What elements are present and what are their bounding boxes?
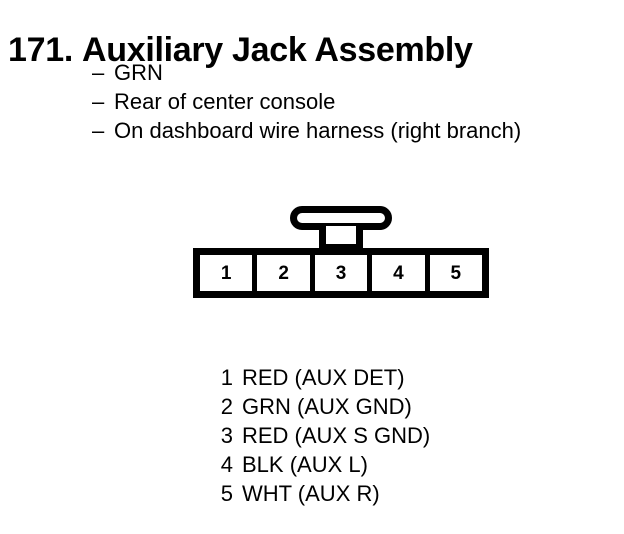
pin-number: 1 xyxy=(218,363,233,392)
list-item: –Rear of center console xyxy=(92,87,521,116)
connector-diagram: 1 2 3 4 5 xyxy=(193,206,489,298)
pin-number: 5 xyxy=(218,479,233,508)
pin-number: 3 xyxy=(218,421,233,450)
connector-cavity-2: 2 xyxy=(257,255,309,291)
pin-label: RED (AUX S GND) xyxy=(242,423,430,448)
connector-cavity-4: 4 xyxy=(372,255,424,291)
pin-legend-row: 3RED (AUX S GND) xyxy=(218,421,430,450)
cavity-number: 4 xyxy=(393,264,404,283)
detail-bullet-list: –GRN –Rear of center console –On dashboa… xyxy=(92,58,521,145)
connector-shell: 1 2 3 4 5 xyxy=(193,248,489,298)
dash-icon: – xyxy=(92,87,104,116)
cavity-number: 5 xyxy=(451,264,462,283)
connector-cavity-3: 3 xyxy=(315,255,367,291)
pin-legend: 1RED (AUX DET) 2GRN (AUX GND) 3RED (AUX … xyxy=(218,363,430,508)
dash-icon: – xyxy=(92,58,104,87)
list-item: –GRN xyxy=(92,58,521,87)
pin-legend-row: 5WHT (AUX R) xyxy=(218,479,430,508)
pin-number: 2 xyxy=(218,392,233,421)
dash-icon: – xyxy=(92,116,104,145)
pin-legend-row: 1RED (AUX DET) xyxy=(218,363,430,392)
pin-legend-row: 4BLK (AUX L) xyxy=(218,450,430,479)
list-item-label: Rear of center console xyxy=(114,89,335,114)
pin-number: 4 xyxy=(218,450,233,479)
list-item-label: On dashboard wire harness (right branch) xyxy=(114,118,521,143)
section-number: 171. xyxy=(8,31,73,69)
pin-label: WHT (AUX R) xyxy=(242,481,380,506)
pin-label: BLK (AUX L) xyxy=(242,452,368,477)
pin-legend-row: 2GRN (AUX GND) xyxy=(218,392,430,421)
pin-label: RED (AUX DET) xyxy=(242,365,405,390)
connector-cavity-1: 1 xyxy=(200,255,252,291)
cavity-number: 2 xyxy=(278,264,289,283)
list-item-label: GRN xyxy=(114,60,163,85)
pin-label: GRN (AUX GND) xyxy=(242,394,412,419)
list-item: –On dashboard wire harness (right branch… xyxy=(92,116,521,145)
latch-neck-notch xyxy=(326,226,356,244)
cavity-number: 1 xyxy=(221,264,232,283)
connector-cavity-5: 5 xyxy=(430,255,482,291)
cavity-number: 3 xyxy=(336,264,347,283)
